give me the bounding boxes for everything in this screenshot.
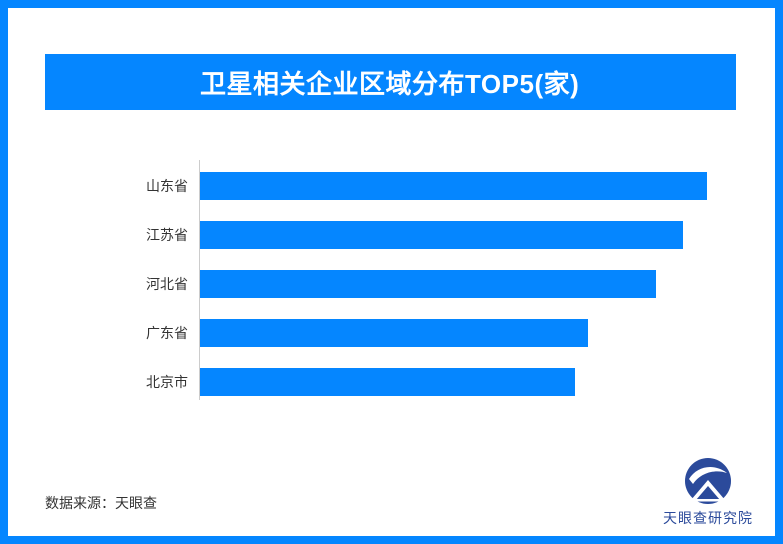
page-frame: 卫星相关企业区域分布TOP5(家) 山东省江苏省河北省广东省北京市 数据来源：天…	[0, 0, 783, 544]
bar-category-label: 广东省	[68, 319, 188, 347]
brand-logo-text: 天眼查研究院	[663, 508, 753, 528]
bar-row: 北京市	[8, 368, 775, 396]
bar-fill	[200, 221, 683, 249]
tianyancha-eye-icon	[683, 456, 733, 506]
chart-card: 卫星相关企业区域分布TOP5(家) 山东省江苏省河北省广东省北京市 数据来源：天…	[8, 8, 775, 536]
bar-chart: 山东省江苏省河北省广东省北京市	[8, 152, 775, 412]
title-banner: 卫星相关企业区域分布TOP5(家)	[45, 54, 736, 110]
bar-row: 江苏省	[8, 221, 775, 249]
bar-fill	[200, 172, 707, 200]
bar-row: 广东省	[8, 319, 775, 347]
bar-category-label: 北京市	[68, 368, 188, 396]
page-title: 卫星相关企业区域分布TOP5(家)	[200, 64, 579, 101]
bar-fill	[200, 270, 656, 298]
bar-fill	[200, 319, 588, 347]
bar-category-label: 山东省	[68, 172, 188, 200]
bar-row: 河北省	[8, 270, 775, 298]
bar-category-label: 江苏省	[68, 221, 188, 249]
bar-category-label: 河北省	[68, 270, 188, 298]
brand-logo: 天眼查研究院	[653, 456, 763, 532]
bar-row: 山东省	[8, 172, 775, 200]
bar-fill	[200, 368, 575, 396]
data-source-label: 数据来源：天眼查	[45, 493, 157, 513]
